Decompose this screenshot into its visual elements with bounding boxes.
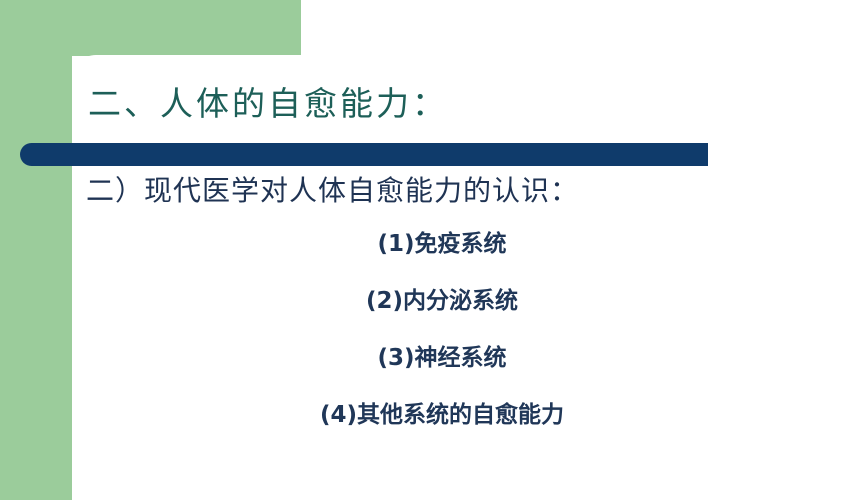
slide-title: 二、人体的自愈能力： (88, 84, 448, 126)
list-item: (2)内分泌系统 (72, 285, 812, 342)
presentation-slide: 二、人体的自愈能力： 二）现代医学对人体自愈能力的认识： (1)免疫系统 (2)… (0, 0, 850, 500)
slide-subtitle: 二）现代医学对人体自愈能力的认识： (86, 173, 579, 211)
list-item: (3)神经系统 (72, 342, 812, 399)
blue-divider-bar-decoration (20, 143, 708, 166)
green-top-block-decoration (0, 0, 301, 56)
green-left-strip-decoration (0, 0, 72, 500)
list-item: (4)其他系统的自愈能力 (72, 399, 812, 456)
bullet-list: (1)免疫系统 (2)内分泌系统 (3)神经系统 (4)其他系统的自愈能力 (72, 228, 812, 456)
list-item: (1)免疫系统 (72, 228, 812, 285)
